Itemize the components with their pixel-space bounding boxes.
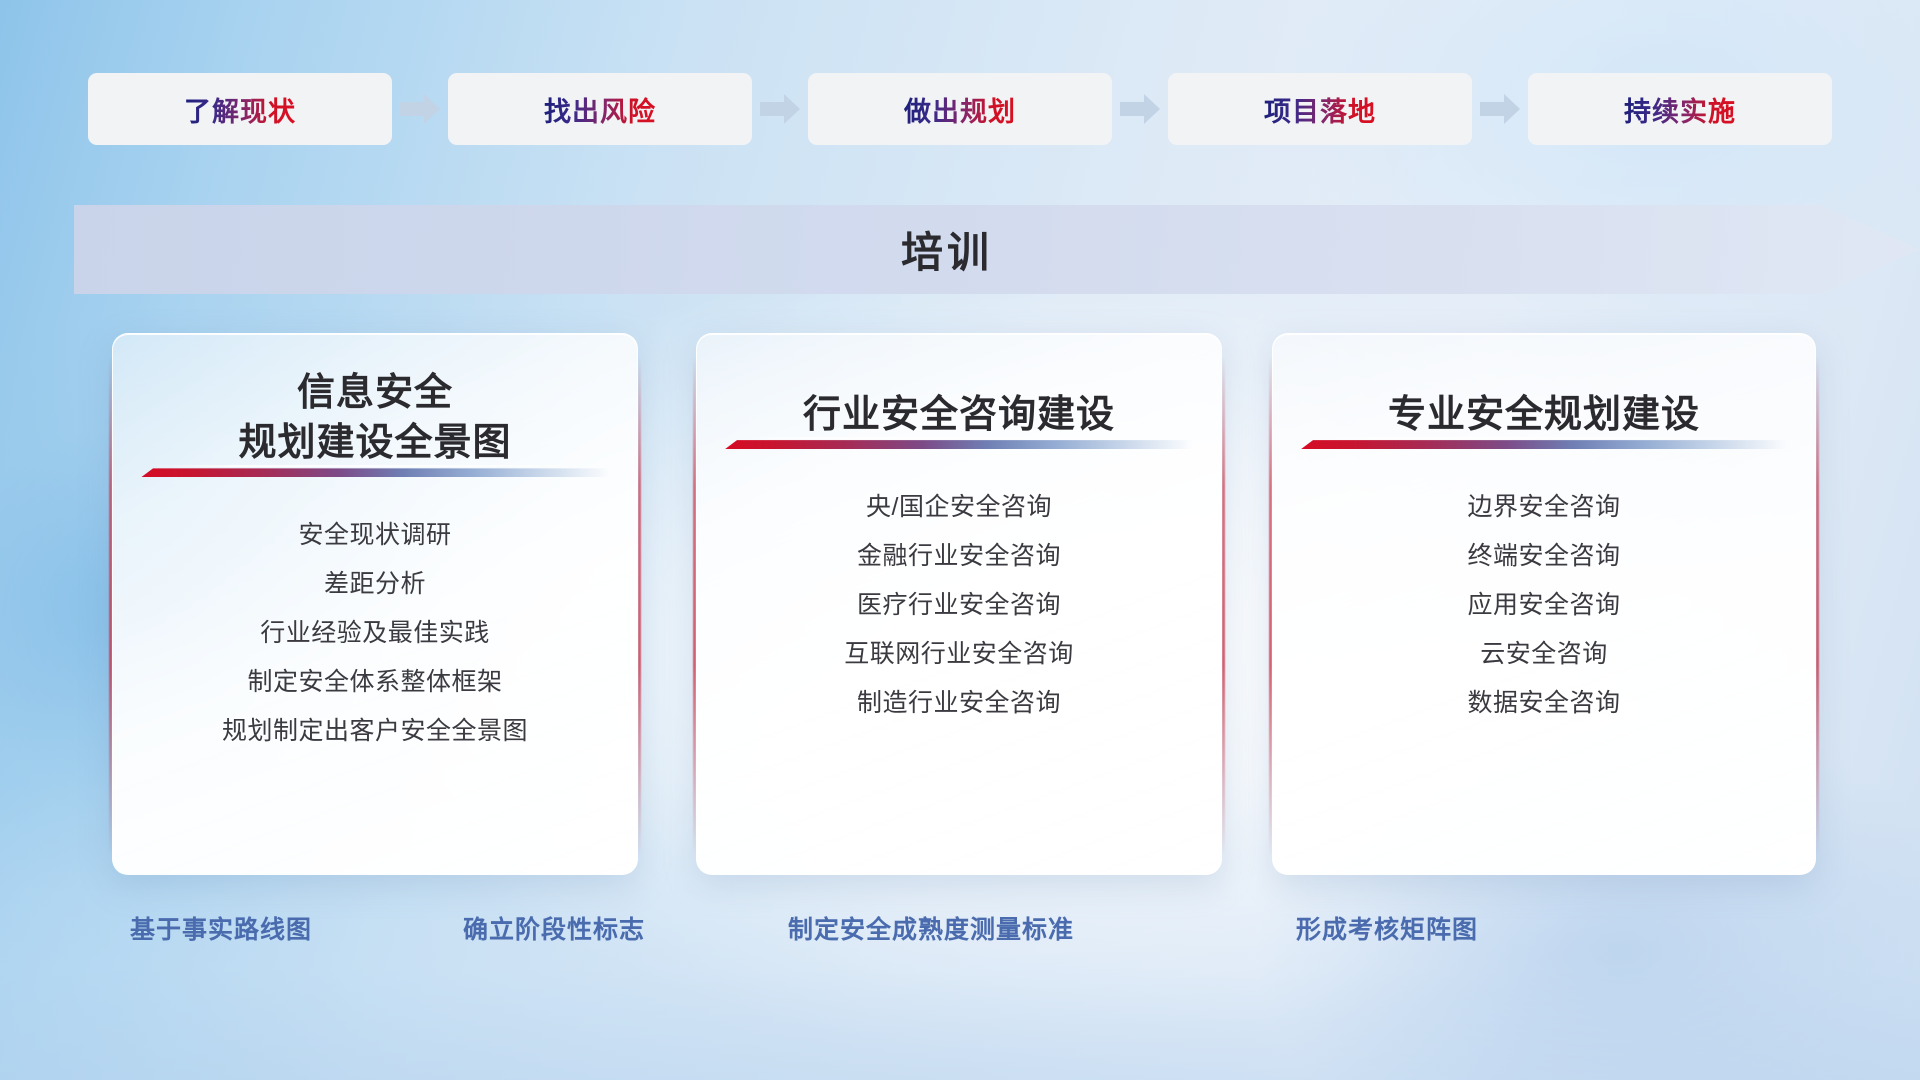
card-professional-security-planning[interactable]: 专业安全规划建设 边界安全咨询 终端安全咨询 应用安全咨询 云安全咨询 数据安全…: [1272, 333, 1816, 875]
card-list-2: 央/国企安全咨询 金融行业安全咨询 医疗行业安全咨询 互联网行业安全咨询 制造行…: [844, 449, 1074, 754]
card-title-1: 信息安全 规划建设全景图: [238, 368, 511, 468]
list-item: 规划制定出客户安全全景图: [222, 707, 528, 756]
card-information-security-panorama[interactable]: 信息安全 规划建设全景图 安全现状调研 差距分析 行业经验及最佳实践 制定安全体…: [112, 333, 638, 875]
card-wrapper-1: 信息安全 规划建设全景图 安全现状调研 差距分析 行业经验及最佳实践 制定安全体…: [112, 333, 638, 875]
step-box-4[interactable]: 项目落地: [1168, 73, 1472, 145]
divider-highlight: [737, 437, 1193, 439]
footnote-label-4: 形成考核矩阵图: [1296, 910, 1478, 946]
list-item: 安全现状调研: [298, 511, 451, 560]
list-item: 医疗行业安全咨询: [857, 581, 1061, 630]
footnote-label-3: 制定安全成熟度测量标准: [788, 910, 1074, 946]
step-label-5: 持续实施: [1624, 90, 1736, 129]
process-step-row: 了解现状 找出风险 做出规划 项目落地 持续实施: [0, 73, 1920, 145]
right-arrow-icon: [752, 73, 808, 145]
card-list-1: 安全现状调研 差距分析 行业经验及最佳实践 制定安全体系整体框架 规划制定出客户…: [222, 477, 528, 782]
list-item: 制定安全体系整体框架: [247, 658, 502, 707]
card-title-2: 行业安全咨询建设: [803, 390, 1115, 440]
training-banner: 培训: [74, 205, 1920, 294]
card-row: 信息安全 规划建设全景图 安全现状调研 差距分析 行业经验及最佳实践 制定安全体…: [0, 333, 1920, 875]
card-divider-1: [141, 468, 609, 477]
step-label-2: 找出风险: [544, 90, 656, 129]
divider-gradient-bar: [1301, 440, 1787, 449]
list-item: 制造行业安全咨询: [857, 679, 1061, 728]
list-item: 应用安全咨询: [1467, 581, 1620, 630]
step-label-3: 做出规划: [904, 90, 1016, 129]
list-item: 行业经验及最佳实践: [260, 609, 490, 658]
list-item: 金融行业安全咨询: [857, 532, 1061, 581]
right-arrow-icon: [1112, 73, 1168, 145]
card-divider-3: [1301, 440, 1787, 449]
step-box-5[interactable]: 持续实施: [1528, 73, 1832, 145]
divider-highlight: [1313, 437, 1787, 439]
step-box-2[interactable]: 找出风险: [448, 73, 752, 145]
divider-gradient-bar: [725, 440, 1193, 449]
footnote-row: 基于事实路线图 确立阶段性标志 制定安全成熟度测量标准 形成考核矩阵图: [0, 910, 1920, 958]
list-item: 云安全咨询: [1480, 630, 1608, 679]
footnote-label-1: 基于事实路线图: [130, 910, 312, 946]
list-item: 边界安全咨询: [1467, 483, 1620, 532]
list-item: 终端安全咨询: [1467, 532, 1620, 581]
card-edge-accent-right: [1816, 357, 1819, 855]
card-list-3: 边界安全咨询 终端安全咨询 应用安全咨询 云安全咨询 数据安全咨询: [1467, 449, 1620, 754]
card-industry-security-consulting[interactable]: 行业安全咨询建设 央/国企安全咨询 金融行业安全咨询 医疗行业安全咨询 互联网行…: [696, 333, 1222, 875]
list-item: 差距分析: [324, 560, 426, 609]
banner-title: 培训: [74, 205, 1820, 294]
step-label-4: 项目落地: [1264, 90, 1376, 129]
step-box-1[interactable]: 了解现状: [88, 73, 392, 145]
right-arrow-icon: [392, 73, 448, 145]
step-label-1: 了解现状: [184, 90, 296, 129]
card-edge-accent-right: [638, 357, 641, 855]
card-wrapper-2: 行业安全咨询建设 央/国企安全咨询 金融行业安全咨询 医疗行业安全咨询 互联网行…: [696, 333, 1222, 875]
footnote-label-2: 确立阶段性标志: [463, 910, 645, 946]
divider-gradient-bar: [141, 468, 609, 477]
list-item: 互联网行业安全咨询: [844, 630, 1074, 679]
card-divider-2: [725, 440, 1193, 449]
card-edge-accent-right: [1222, 357, 1225, 855]
card-wrapper-3: 专业安全规划建设 边界安全咨询 终端安全咨询 应用安全咨询 云安全咨询 数据安全…: [1272, 333, 1816, 875]
list-item: 数据安全咨询: [1467, 679, 1620, 728]
right-arrow-icon: [1472, 73, 1528, 145]
list-item: 央/国企安全咨询: [866, 483, 1052, 532]
divider-highlight: [153, 465, 609, 467]
step-box-3[interactable]: 做出规划: [808, 73, 1112, 145]
card-title-3: 专业安全规划建设: [1388, 390, 1700, 440]
